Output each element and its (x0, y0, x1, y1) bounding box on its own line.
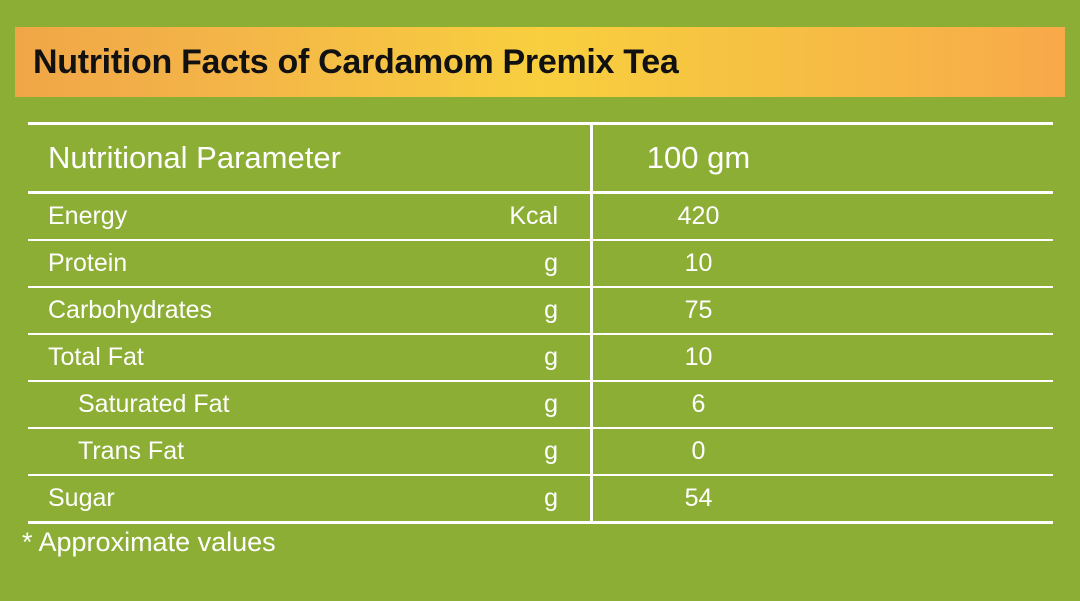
table-header-row: Nutritional Parameter 100 gm (28, 125, 1053, 191)
footnote: * Approximate values (22, 527, 276, 558)
row-value: 10 (572, 241, 1053, 286)
table-row: Sugar g 54 (28, 476, 1053, 521)
nutrition-table: Nutritional Parameter 100 gm Energy Kcal… (28, 122, 1053, 524)
row-label: Carbohydrates (28, 296, 544, 325)
row-label: Protein (28, 249, 544, 278)
row-parameter-cell: Trans Fat g (28, 429, 572, 474)
title-banner: Nutrition Facts of Cardamom Premix Tea (15, 27, 1065, 97)
table-row: Trans Fat g 0 (28, 429, 1053, 474)
column-header-parameter: Nutritional Parameter (28, 140, 572, 176)
column-divider (590, 122, 593, 524)
row-parameter-cell: Total Fat g (28, 335, 572, 380)
table-row: Carbohydrates g 75 (28, 288, 1053, 333)
row-parameter-cell: Energy Kcal (28, 194, 572, 239)
header-cell-parameter: Nutritional Parameter (28, 125, 572, 191)
row-unit: g (544, 296, 572, 325)
row-label: Sugar (28, 484, 544, 513)
table-row: Total Fat g 10 (28, 335, 1053, 380)
table-row: Protein g 10 (28, 241, 1053, 286)
nutrition-facts-panel: Nutrition Facts of Cardamom Premix Tea N… (0, 0, 1080, 601)
row-value: 10 (572, 335, 1053, 380)
row-label: Trans Fat (28, 437, 544, 466)
table-row: Energy Kcal 420 (28, 194, 1053, 239)
row-value: 420 (572, 194, 1053, 239)
row-value: 0 (572, 429, 1053, 474)
row-label: Energy (28, 202, 509, 231)
row-unit: g (544, 437, 572, 466)
row-unit: g (544, 390, 572, 419)
row-value: 75 (572, 288, 1053, 333)
table-rule-bottom (28, 521, 1053, 524)
row-unit: g (544, 249, 572, 278)
row-label: Total Fat (28, 343, 544, 372)
row-value: 6 (572, 382, 1053, 427)
row-unit: Kcal (509, 202, 572, 231)
column-header-amount: 100 gm (572, 125, 1053, 191)
row-value: 54 (572, 476, 1053, 521)
row-label: Saturated Fat (28, 390, 544, 419)
row-parameter-cell: Saturated Fat g (28, 382, 572, 427)
row-unit: g (544, 484, 572, 513)
row-unit: g (544, 343, 572, 372)
row-parameter-cell: Carbohydrates g (28, 288, 572, 333)
row-parameter-cell: Sugar g (28, 476, 572, 521)
table-row: Saturated Fat g 6 (28, 382, 1053, 427)
page-title: Nutrition Facts of Cardamom Premix Tea (33, 43, 678, 82)
row-parameter-cell: Protein g (28, 241, 572, 286)
